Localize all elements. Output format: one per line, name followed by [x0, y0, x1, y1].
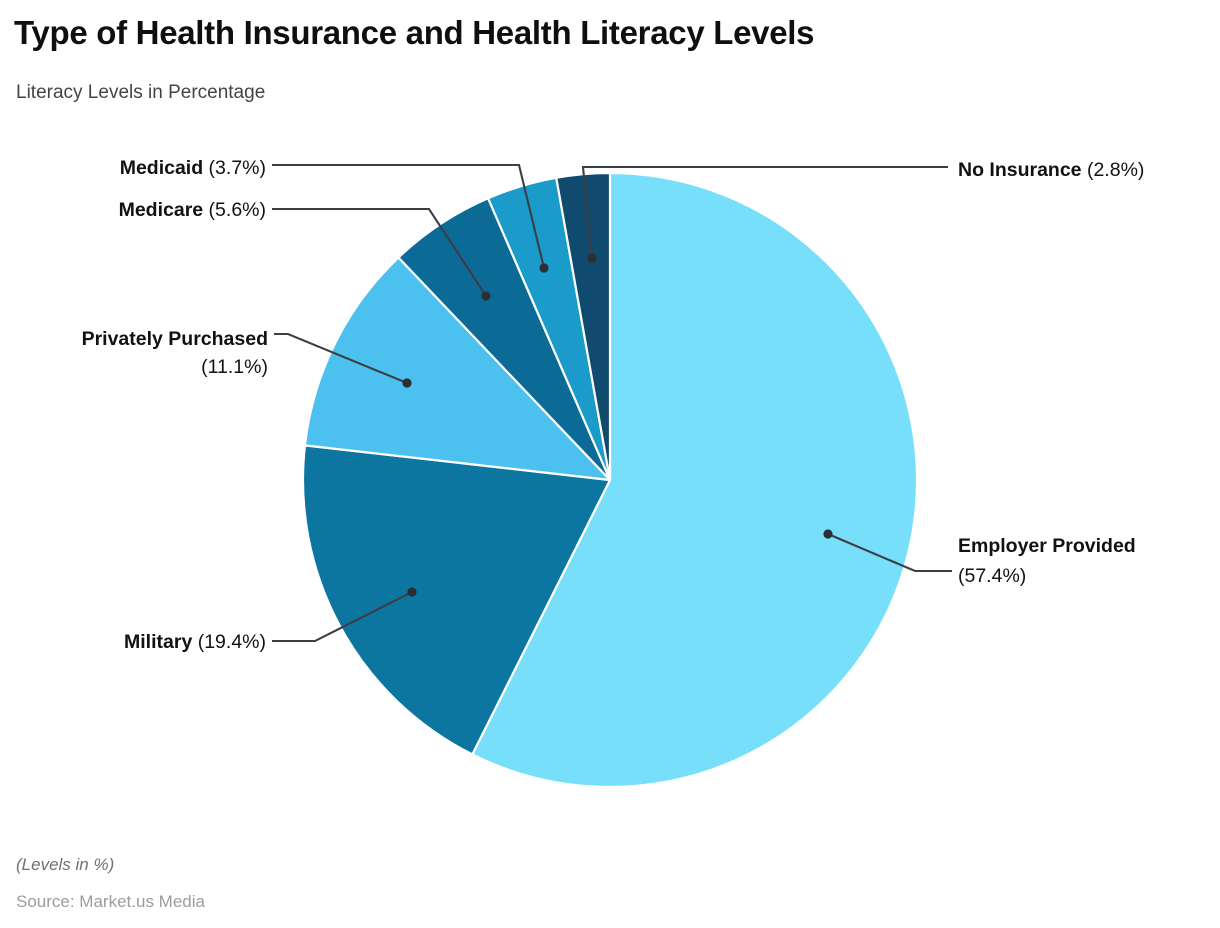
slice-label-value: (5.6%) [203, 199, 266, 221]
slice-label-value: (3.7%) [203, 157, 266, 179]
slice-label-name: Employer Provided [958, 535, 1136, 557]
leader-dot-marker [587, 253, 596, 262]
slice-label: Military (19.4%) [124, 631, 266, 653]
leader-dot-marker [481, 291, 490, 300]
leader-dot-marker [402, 378, 411, 387]
slice-label-name: Medicare [119, 199, 204, 221]
slice-label: Employer Provided(57.4%) [958, 535, 1136, 587]
pie-chart-plot-area: Employer Provided(57.4%)Military (19.4%)… [0, 0, 1220, 928]
slice-label-name: Military [124, 631, 192, 653]
levels-note: (Levels in %) [16, 855, 114, 875]
slice-label: No Insurance (2.8%) [958, 159, 1144, 181]
slice-label-value: (19.4%) [192, 631, 266, 653]
slice-label-value: (57.4%) [958, 565, 1026, 587]
slice-label-value: (11.1%) [201, 356, 268, 378]
slice-label: Medicare (5.6%) [119, 199, 266, 221]
pie-chart-svg: Employer Provided(57.4%)Military (19.4%)… [0, 0, 1220, 928]
leader-dot-marker [539, 263, 548, 272]
chart-page: Type of Health Insurance and Health Lite… [0, 0, 1220, 928]
slice-label-name: Medicaid [120, 157, 203, 179]
slice-label-name: Privately Purchased [82, 328, 268, 350]
pie-slices-group [303, 173, 917, 787]
slice-label-name: No Insurance [958, 159, 1082, 181]
slice-label-value: (2.8%) [1082, 159, 1145, 181]
leader-dot-marker [407, 587, 416, 596]
slice-label: Medicaid (3.7%) [120, 157, 266, 179]
source-note: Source: Market.us Media [16, 892, 205, 912]
slice-label: Privately Purchased(11.1%) [82, 328, 268, 378]
leader-dot-marker [823, 529, 832, 538]
